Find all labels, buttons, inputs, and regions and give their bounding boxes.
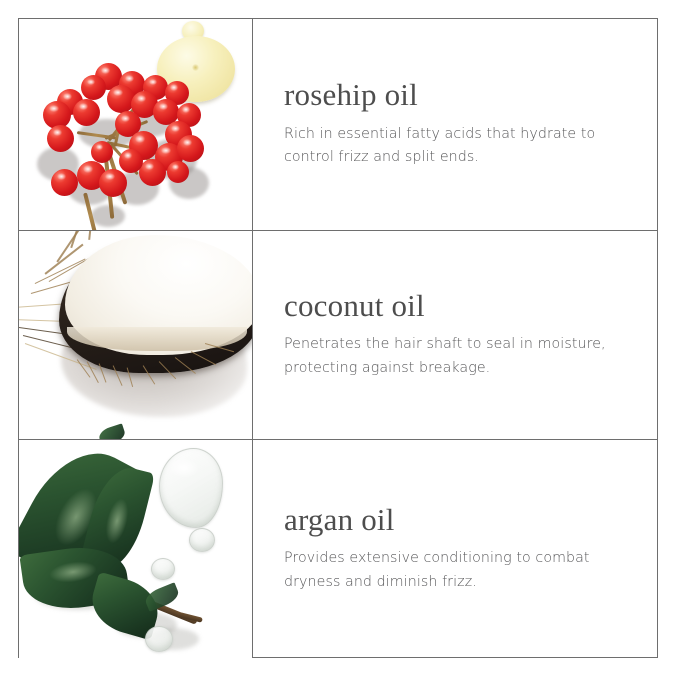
ingredient-description: Penetrates the hair shaft to seal in moi… — [284, 333, 634, 380]
rosehip-berry — [51, 169, 78, 196]
rosehip-berry — [47, 125, 74, 152]
ingredient-row-coconut: coconut oil Penetrates the hair shaft to… — [19, 230, 657, 439]
rosehip-berry — [119, 149, 143, 173]
rosehip-photo — [19, 19, 252, 230]
leaf-tip — [97, 423, 127, 439]
ingredient-title: coconut oil — [284, 290, 637, 323]
ingredient-text-argan: argan oil Provides extensive conditionin… — [253, 440, 657, 658]
rosehip-berry — [177, 135, 204, 162]
ingredient-image-rosehip — [19, 19, 253, 230]
ingredient-image-coconut — [19, 231, 253, 439]
oil-droplet-small-icon — [145, 626, 173, 652]
ingredient-description: Rich in essential fatty acids that hydra… — [284, 123, 634, 170]
oil-droplet-medium-icon — [189, 528, 215, 552]
rosehip-berry — [73, 99, 100, 126]
ingredient-title: argan oil — [284, 504, 637, 537]
ingredient-image-argan — [19, 440, 253, 658]
ingredient-row-rosehip: rosehip oil Rich in essential fatty acid… — [19, 19, 657, 230]
coconut-photo — [19, 231, 252, 439]
rosehip-berry — [81, 75, 106, 100]
ingredient-benefits-panel: rosehip oil Rich in essential fatty acid… — [18, 18, 658, 658]
argan-photo — [19, 440, 252, 658]
coconut-fiber — [88, 231, 93, 240]
rosehip-berry — [139, 159, 166, 186]
droplet-highlight — [169, 458, 199, 478]
berry-shadow — [91, 205, 125, 227]
ingredient-text-rosehip: rosehip oil Rich in essential fatty acid… — [253, 19, 657, 230]
rosehip-berry — [167, 161, 189, 183]
ingredient-row-argan: argan oil Provides extensive conditionin… — [19, 439, 657, 658]
rosehip-berry — [91, 141, 113, 163]
ingredient-description: Provides extensive conditioning to comba… — [284, 547, 634, 594]
rosehip-berry — [99, 169, 127, 197]
ingredient-text-coconut: coconut oil Penetrates the hair shaft to… — [253, 231, 657, 439]
ingredient-title: rosehip oil — [284, 79, 637, 112]
oil-droplet-medium-icon — [151, 558, 175, 580]
